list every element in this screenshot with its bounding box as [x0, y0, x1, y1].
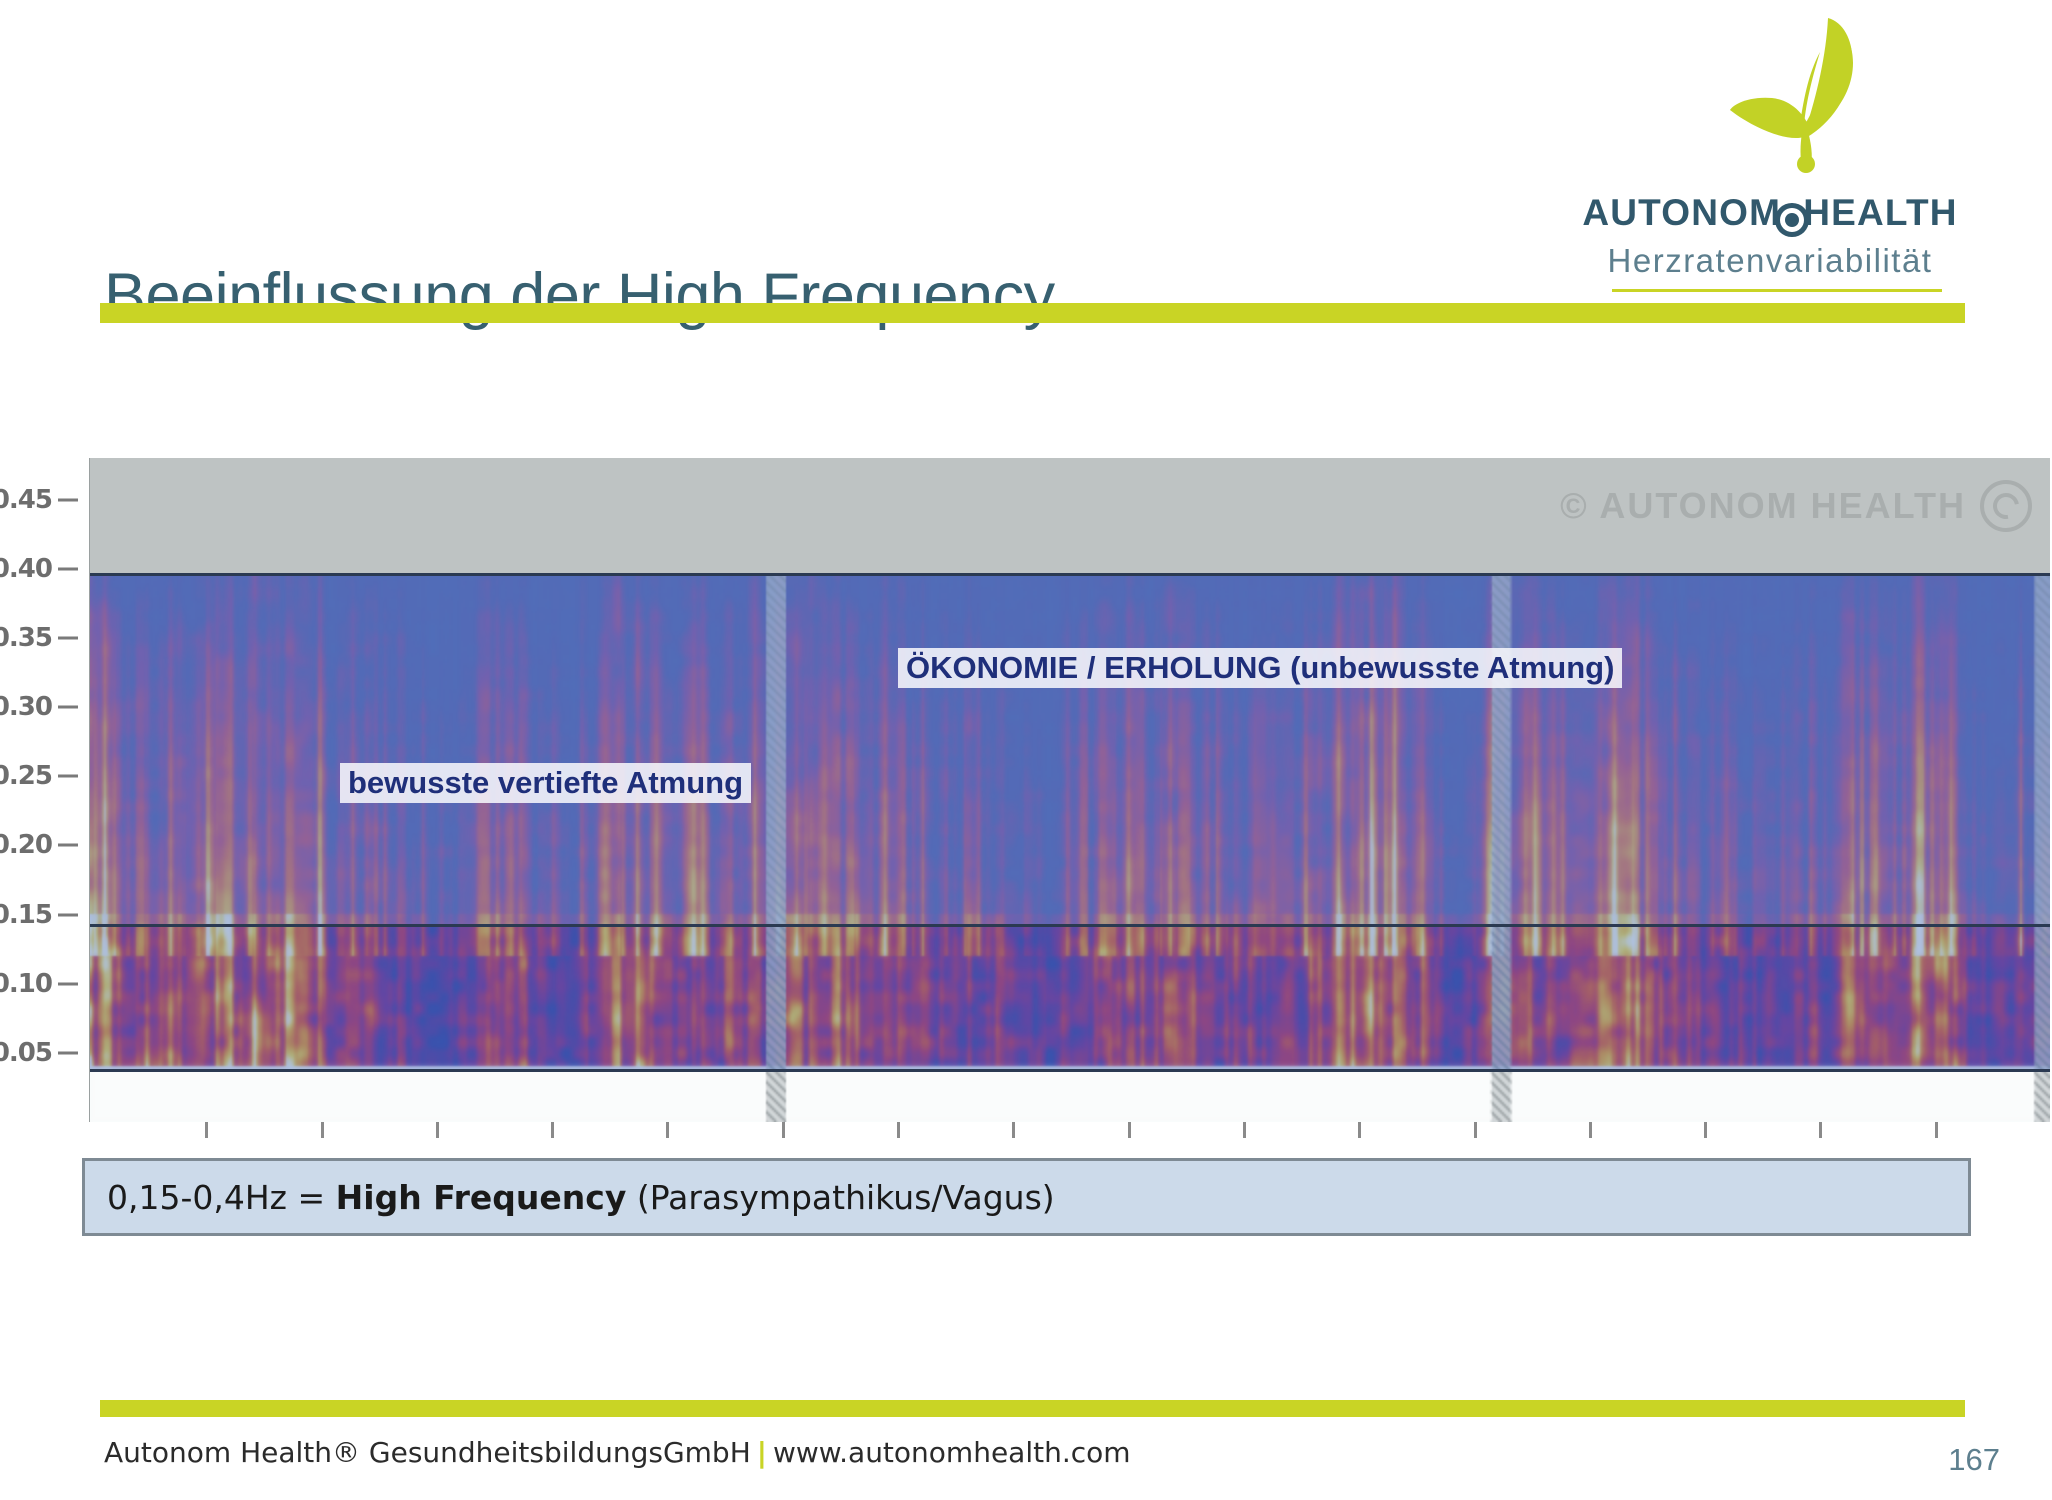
x-tick-mark [1819, 1122, 1822, 1138]
y-tick-mark [58, 636, 78, 639]
y-tick-mark [58, 567, 78, 570]
x-tick-mark [1935, 1122, 1938, 1138]
footer-company: Autonom Health® GesundheitsbildungsGmbH [104, 1436, 751, 1469]
band-high-frequency [90, 573, 2050, 927]
footer-text: Autonom Health® GesundheitsbildungsGmbH|… [104, 1436, 1131, 1469]
x-tick-mark [1704, 1122, 1707, 1138]
title-accent-rule [100, 303, 1965, 323]
y-tick-mark [58, 498, 78, 501]
x-tick-mark [321, 1122, 324, 1138]
watermark-text: © AUTONOM HEALTH [1560, 485, 1966, 527]
logo-wordmark: AUTONOMHEALTH [1560, 192, 1980, 234]
x-tick-mark [897, 1122, 900, 1138]
page-number: 167 [1948, 1442, 2000, 1478]
y-axis: 0.450.400.350.300.250.200.150.100.05 [0, 450, 90, 1126]
spectrogram-plot-area: © AUTONOM HEALTH ÖKONOMIE / ERHOLUNG (un… [90, 458, 2050, 1122]
logo-wordmark-left: AUTONOM [1582, 192, 1781, 233]
x-tick-mark [1589, 1122, 1592, 1138]
y-tick-label: 0.25 [0, 761, 52, 791]
logo-subtitle: Herzratenvariabilität [1560, 242, 1980, 280]
x-tick-mark [1243, 1122, 1246, 1138]
target-dot-icon [1785, 213, 1799, 227]
caption-range: 0,15-0,4Hz = [107, 1178, 336, 1217]
x-tick-mark [436, 1122, 439, 1138]
caption-suffix: (Parasympathikus/Vagus) [626, 1178, 1054, 1217]
x-tick-mark [666, 1122, 669, 1138]
y-tick-label: 0.10 [0, 969, 52, 999]
y-tick-label: 0.40 [0, 554, 52, 584]
caption-box: 0,15-0,4Hz = High Frequency (Parasympath… [82, 1158, 1971, 1236]
y-tick-mark [58, 982, 78, 985]
y-tick-mark [58, 706, 78, 709]
footer-separator: | [751, 1436, 773, 1469]
y-tick-label: 0.15 [0, 900, 52, 930]
y-tick-label: 0.05 [0, 1038, 52, 1068]
caption-bold: High Frequency [336, 1178, 627, 1217]
logo-underline [1612, 289, 1942, 292]
x-tick-mark [782, 1122, 785, 1138]
x-tick-mark [1012, 1122, 1015, 1138]
annotation-oekonomie: ÖKONOMIE / ERHOLUNG (unbewusste Atmung) [898, 648, 1622, 688]
footer-website[interactable]: www.autonomhealth.com [773, 1436, 1131, 1469]
caption-text: 0,15-0,4Hz = High Frequency (Parasympath… [107, 1178, 1055, 1217]
watermark-logo-icon [1980, 480, 2032, 532]
y-tick-mark [58, 844, 78, 847]
y-tick-label: 0.30 [0, 692, 52, 722]
y-tick-label: 0.45 [0, 485, 52, 515]
y-tick-label: 0.35 [0, 623, 52, 653]
y-tick-mark [58, 775, 78, 778]
hrv-spectrogram-chart: 0.450.400.350.300.250.200.150.100.05 © A… [0, 450, 2052, 1140]
x-tick-mark [1474, 1122, 1477, 1138]
watermark: © AUTONOM HEALTH [1560, 480, 2032, 532]
x-tick-mark [205, 1122, 208, 1138]
annotation-bewusste-atmung: bewusste vertiefte Atmung [340, 763, 751, 803]
y-tick-mark [58, 913, 78, 916]
x-tick-mark [551, 1122, 554, 1138]
sprout-leaf-icon [1710, 14, 1890, 174]
logo-wordmark-right: HEALTH [1803, 192, 1958, 233]
x-tick-mark [1128, 1122, 1131, 1138]
y-tick-label: 0.20 [0, 830, 52, 860]
y-tick-mark [58, 1051, 78, 1054]
brand-logo: AUTONOMHEALTH Herzratenvariabilität [1560, 14, 1980, 274]
footer-accent-rule [100, 1400, 1965, 1417]
band-conscious-breathing [90, 924, 2050, 1072]
x-tick-mark [1358, 1122, 1361, 1138]
